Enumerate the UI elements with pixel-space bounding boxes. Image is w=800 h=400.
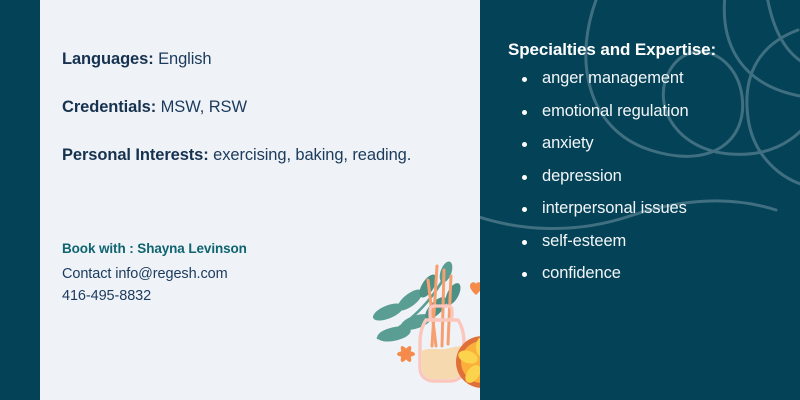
profile-card: Languages: English Credentials: MSW, RSW…: [0, 0, 800, 400]
list-item: depression: [518, 168, 788, 185]
phone-line[interactable]: 416-495-8832: [62, 285, 392, 307]
email-line[interactable]: Contact info@regesh.com: [62, 263, 392, 285]
list-item: confidence: [518, 265, 788, 282]
credentials-row: Credentials: MSW, RSW: [62, 96, 454, 120]
interests-value: exercising, baking, reading.: [213, 146, 411, 164]
credentials-label: Credentials:: [62, 98, 156, 116]
profile-details: Languages: English Credentials: MSW, RSW…: [62, 48, 454, 168]
interests-label: Personal Interests:: [62, 146, 209, 164]
list-item: anxiety: [518, 135, 788, 152]
languages-label: Languages:: [62, 50, 154, 68]
aromatherapy-diffuser-illustration: [358, 250, 480, 400]
interests-row: Personal Interests: exercising, baking, …: [62, 144, 454, 168]
list-item: self-esteem: [518, 233, 788, 250]
credentials-value: MSW, RSW: [161, 98, 247, 116]
contact-details: Book with : Shayna Levinson Contact info…: [62, 241, 392, 308]
specialties-title: Specialties and Expertise:: [508, 40, 788, 60]
orange-slice: [456, 336, 480, 388]
list-item: interpersonal issues: [518, 200, 788, 217]
heart-orange: [470, 282, 480, 295]
languages-value: English: [158, 50, 211, 68]
languages-row: Languages: English: [62, 48, 454, 72]
right-specialties-panel: Specialties and Expertise: anger managem…: [480, 0, 800, 400]
book-with-line[interactable]: Book with : Shayna Levinson: [62, 241, 392, 256]
list-item: emotional regulation: [518, 103, 788, 120]
orange-flower: [397, 345, 415, 364]
specialties-block: Specialties and Expertise: anger managem…: [508, 40, 788, 298]
left-accent-strip: [0, 0, 40, 400]
left-info-panel: Languages: English Credentials: MSW, RSW…: [40, 0, 480, 400]
list-item: anger management: [518, 70, 788, 87]
specialties-list: anger management emotional regulation an…: [508, 70, 788, 282]
